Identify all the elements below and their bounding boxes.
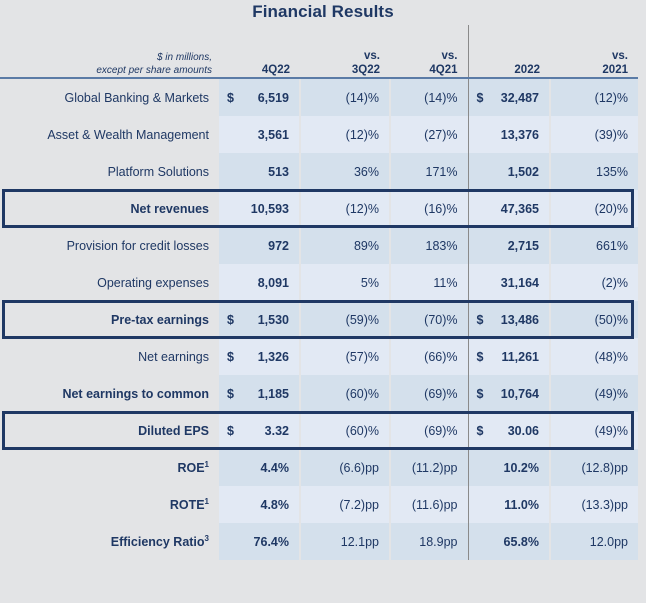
currency-symbol: $ — [227, 350, 234, 364]
footnote-marker: 3 — [205, 533, 209, 542]
value-vs-2021: (49)% — [550, 412, 638, 449]
value-vs-2021: (2)% — [550, 264, 638, 301]
value-2022: 1,502 — [468, 153, 550, 190]
col-2021-top: vs. — [550, 49, 638, 63]
value-2022-text: 13,376 — [501, 128, 539, 142]
value-vs-3q22-text: (7.2)pp — [339, 498, 379, 512]
value-vs-4q21-text: (11.2)pp — [412, 461, 458, 475]
table-row: ROE14.4%(6.6)pp(11.2)pp10.2%(12.8)pp — [0, 449, 638, 486]
table-row: Diluted EPS$3.32(60)%(69)%$30.06(49)% — [0, 412, 638, 449]
financial-results-table-wrap: $ in millions, except per share amounts … — [0, 25, 646, 560]
table-row: Net earnings$1,326(57)%(66)%$11,261(48)% — [0, 338, 638, 375]
value-vs-4q21-text: (70)% — [424, 313, 457, 327]
value-4q22-text: 972 — [268, 239, 289, 253]
value-2022: $13,486 — [468, 301, 550, 338]
table-header: $ in millions, except per share amounts … — [0, 25, 638, 78]
col-2022-bottom: 2022 — [469, 63, 551, 77]
value-vs-3q22: (14)% — [300, 78, 390, 116]
value-4q22: 10,593 — [218, 190, 300, 227]
table-row: ROTE14.8%(7.2)pp(11.6)pp11.0%(13.3)pp — [0, 486, 638, 523]
value-vs-2021: 661% — [550, 227, 638, 264]
value-vs-2021-text: (48)% — [595, 350, 628, 364]
currency-symbol: $ — [477, 424, 484, 438]
value-vs-4q21-text: (69)% — [424, 387, 457, 401]
value-vs-2021-text: 12.0pp — [590, 535, 628, 549]
currency-symbol: $ — [227, 424, 234, 438]
currency-symbol: $ — [227, 313, 234, 327]
col-4q22-bottom: 4Q22 — [218, 63, 300, 77]
column-header-vs-3q22: vs. 3Q22 — [300, 25, 390, 78]
currency-symbol: $ — [477, 91, 484, 105]
value-vs-4q21-text: (11.6)pp — [412, 498, 458, 512]
value-vs-2021-text: (39)% — [595, 128, 628, 142]
value-vs-4q21-text: (27)% — [424, 128, 457, 142]
value-vs-2021-text: 135% — [596, 165, 628, 179]
footnote-marker: 1 — [205, 496, 209, 505]
value-vs-2021-text: (49)% — [595, 387, 628, 401]
value-vs-3q22: (59)% — [300, 301, 390, 338]
value-4q22-text: 3,561 — [258, 128, 289, 142]
value-vs-3q22-text: (12)% — [346, 202, 379, 216]
value-vs-2021-text: (13.3)pp — [581, 498, 628, 512]
value-vs-2021-text: (12)% — [595, 91, 628, 105]
value-vs-4q21: (14)% — [390, 78, 468, 116]
value-2022-text: 1,502 — [508, 165, 539, 179]
value-vs-2021: (48)% — [550, 338, 638, 375]
value-4q22: 4.4% — [218, 449, 300, 486]
row-label: Diluted EPS — [0, 412, 218, 449]
value-vs-3q22-text: (6.6)pp — [339, 461, 379, 475]
value-4q22: $6,519 — [218, 78, 300, 116]
table-header-row: $ in millions, except per share amounts … — [0, 25, 638, 78]
value-vs-3q22-text: 12.1pp — [341, 535, 379, 549]
row-label: Asset & Wealth Management — [0, 116, 218, 153]
value-4q22-text: 1,530 — [258, 313, 289, 327]
units-line-1: $ in millions, — [0, 51, 218, 64]
value-vs-3q22: (60)% — [300, 375, 390, 412]
table-row: Platform Solutions51336%171%1,502135% — [0, 153, 638, 190]
value-vs-4q21: (11.6)pp — [390, 486, 468, 523]
value-2022: 47,365 — [468, 190, 550, 227]
value-4q22: 76.4% — [218, 523, 300, 560]
value-vs-2021-text: (2)% — [602, 276, 628, 290]
value-vs-4q21: (27)% — [390, 116, 468, 153]
value-2022-text: 30.06 — [508, 424, 539, 438]
value-vs-4q21: (11.2)pp — [390, 449, 468, 486]
value-4q22-text: 513 — [268, 165, 289, 179]
value-2022-text: 31,164 — [501, 276, 539, 290]
value-vs-2021: 135% — [550, 153, 638, 190]
row-label: Provision for credit losses — [0, 227, 218, 264]
value-4q22: $1,530 — [218, 301, 300, 338]
currency-symbol: $ — [227, 91, 234, 105]
value-vs-3q22: 5% — [300, 264, 390, 301]
value-vs-4q21: 171% — [390, 153, 468, 190]
value-vs-3q22: (57)% — [300, 338, 390, 375]
value-vs-2021-text: (20)% — [595, 202, 628, 216]
column-header-vs-2021: vs. 2021 — [550, 25, 638, 78]
value-2022-text: 47,365 — [501, 202, 539, 216]
value-4q22: 513 — [218, 153, 300, 190]
currency-symbol: $ — [477, 313, 484, 327]
value-vs-2021: (49)% — [550, 375, 638, 412]
currency-symbol: $ — [227, 387, 234, 401]
page-title: Financial Results — [0, 2, 646, 22]
value-vs-2021-text: 661% — [596, 239, 628, 253]
column-header-units: $ in millions, except per share amounts — [0, 25, 218, 78]
value-vs-4q21: (66)% — [390, 338, 468, 375]
table-row: Net earnings to common$1,185(60)%(69)%$1… — [0, 375, 638, 412]
value-vs-4q21-text: 11% — [433, 276, 457, 290]
footnote-marker: 1 — [205, 459, 209, 468]
value-2022: $10,764 — [468, 375, 550, 412]
column-header-2022: 2022 — [468, 25, 550, 78]
value-vs-2021: (13.3)pp — [550, 486, 638, 523]
value-vs-3q22: (12)% — [300, 116, 390, 153]
value-4q22: $3.32 — [218, 412, 300, 449]
value-2022: $30.06 — [468, 412, 550, 449]
value-vs-4q21: 183% — [390, 227, 468, 264]
value-4q22: 972 — [218, 227, 300, 264]
value-4q22-text: 4.8% — [261, 498, 290, 512]
value-vs-4q21-text: 18.9pp — [419, 535, 457, 549]
value-2022: 10.2% — [468, 449, 550, 486]
col-2021-bottom: 2021 — [550, 63, 638, 77]
value-vs-3q22: (6.6)pp — [300, 449, 390, 486]
value-2022-text: 11,261 — [501, 350, 539, 364]
value-vs-4q21: (69)% — [390, 412, 468, 449]
value-vs-4q21-text: 183% — [426, 239, 458, 253]
value-vs-3q22: (7.2)pp — [300, 486, 390, 523]
value-vs-4q21-text: (66)% — [424, 350, 457, 364]
value-vs-2021-text: (12.8)pp — [581, 461, 628, 475]
value-2022: 13,376 — [468, 116, 550, 153]
value-vs-4q21-text: (14)% — [424, 91, 457, 105]
value-vs-4q21: (69)% — [390, 375, 468, 412]
table-row: Asset & Wealth Management3,561(12)%(27)%… — [0, 116, 638, 153]
value-vs-4q21: 18.9pp — [390, 523, 468, 560]
value-2022-text: 2,715 — [508, 239, 539, 253]
value-4q22-text: 6,519 — [258, 91, 289, 105]
value-vs-2021: 12.0pp — [550, 523, 638, 560]
value-4q22: 8,091 — [218, 264, 300, 301]
value-vs-4q21-text: (16)% — [424, 202, 457, 216]
value-4q22-text: 10,593 — [251, 202, 289, 216]
col-3q22-bottom: 3Q22 — [300, 63, 390, 77]
table-row: Net revenues10,593(12)%(16)%47,365(20)% — [0, 190, 638, 227]
col-4q21-bottom: 4Q21 — [390, 63, 468, 77]
value-2022-text: 65.8% — [504, 535, 539, 549]
row-label: ROE1 — [0, 449, 218, 486]
value-2022: $11,261 — [468, 338, 550, 375]
units-line-2: except per share amounts — [0, 64, 218, 77]
value-2022-text: 32,487 — [501, 91, 539, 105]
value-4q22: $1,326 — [218, 338, 300, 375]
value-4q22: 3,561 — [218, 116, 300, 153]
value-vs-2021: (20)% — [550, 190, 638, 227]
value-2022: 65.8% — [468, 523, 550, 560]
table-body: Global Banking & Markets$6,519(14)%(14)%… — [0, 78, 638, 560]
value-2022: 2,715 — [468, 227, 550, 264]
table-row: Efficiency Ratio376.4%12.1pp18.9pp65.8%1… — [0, 523, 638, 560]
value-vs-2021-text: (49)% — [595, 424, 628, 438]
value-vs-3q22-text: 89% — [354, 239, 379, 253]
value-vs-4q21-text: 171% — [426, 165, 458, 179]
value-4q22-text: 8,091 — [258, 276, 289, 290]
currency-symbol: $ — [477, 387, 484, 401]
value-vs-2021: (50)% — [550, 301, 638, 338]
value-2022: 31,164 — [468, 264, 550, 301]
column-header-vs-4q21: vs. 4Q21 — [390, 25, 468, 78]
value-vs-3q22-text: (57)% — [346, 350, 379, 364]
value-vs-3q22-text: (12)% — [346, 128, 379, 142]
row-label: Net earnings — [0, 338, 218, 375]
value-vs-3q22: (12)% — [300, 190, 390, 227]
value-4q22-text: 3.32 — [265, 424, 289, 438]
row-label: ROTE1 — [0, 486, 218, 523]
table-row: Provision for credit losses97289%183%2,7… — [0, 227, 638, 264]
financial-results-table: $ in millions, except per share amounts … — [0, 25, 638, 560]
col-4q21-top: vs. — [390, 49, 468, 63]
value-vs-3q22: 12.1pp — [300, 523, 390, 560]
value-vs-4q21: (70)% — [390, 301, 468, 338]
row-label: Operating expenses — [0, 264, 218, 301]
value-2022-text: 10.2% — [504, 461, 539, 475]
value-vs-4q21-text: (69)% — [424, 424, 457, 438]
value-vs-4q21: 11% — [390, 264, 468, 301]
value-vs-3q22-text: (60)% — [346, 387, 379, 401]
value-vs-2021: (12.8)pp — [550, 449, 638, 486]
value-vs-2021-text: (50)% — [595, 313, 628, 327]
value-vs-3q22-text: 5% — [361, 276, 379, 290]
value-vs-3q22: 89% — [300, 227, 390, 264]
table-row: Global Banking & Markets$6,519(14)%(14)%… — [0, 78, 638, 116]
value-vs-2021: (12)% — [550, 78, 638, 116]
value-vs-3q22: 36% — [300, 153, 390, 190]
value-vs-3q22: (60)% — [300, 412, 390, 449]
value-4q22-text: 1,326 — [258, 350, 289, 364]
value-2022-text: 13,486 — [501, 313, 539, 327]
value-4q22-text: 4.4% — [261, 461, 290, 475]
value-vs-3q22-text: 36% — [354, 165, 379, 179]
currency-symbol: $ — [477, 350, 484, 364]
table-row: Pre-tax earnings$1,530(59)%(70)%$13,486(… — [0, 301, 638, 338]
value-4q22-text: 1,185 — [258, 387, 289, 401]
row-label: Global Banking & Markets — [0, 78, 218, 116]
value-2022: $32,487 — [468, 78, 550, 116]
row-label: Net revenues — [0, 190, 218, 227]
table-row: Operating expenses8,0915%11%31,164(2)% — [0, 264, 638, 301]
row-label: Pre-tax earnings — [0, 301, 218, 338]
value-vs-3q22-text: (59)% — [346, 313, 379, 327]
row-label: Efficiency Ratio3 — [0, 523, 218, 560]
value-4q22: $1,185 — [218, 375, 300, 412]
value-4q22-text: 76.4% — [254, 535, 289, 549]
value-2022: 11.0% — [468, 486, 550, 523]
value-vs-2021: (39)% — [550, 116, 638, 153]
value-vs-4q21: (16)% — [390, 190, 468, 227]
col-3q22-top: vs. — [300, 49, 390, 63]
row-label: Platform Solutions — [0, 153, 218, 190]
value-4q22: 4.8% — [218, 486, 300, 523]
value-2022-text: 10,764 — [501, 387, 539, 401]
value-vs-3q22-text: (14)% — [346, 91, 379, 105]
row-label: Net earnings to common — [0, 375, 218, 412]
column-header-4q22: 4Q22 — [218, 25, 300, 78]
value-2022-text: 11.0% — [504, 498, 539, 512]
value-vs-3q22-text: (60)% — [346, 424, 379, 438]
